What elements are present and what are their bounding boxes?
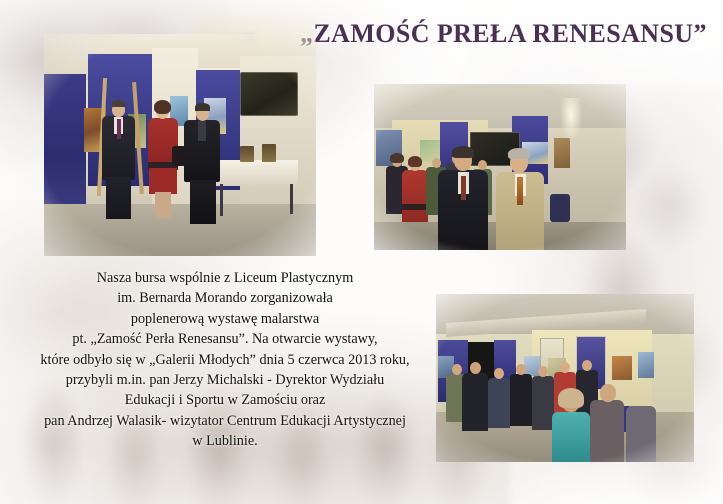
poster-body-text: Nasza bursa wspólnie z Liceum Plastyczny… — [10, 268, 440, 452]
visitor-5-head — [478, 160, 487, 170]
visitor-1-hair — [390, 153, 404, 163]
table-leg-left — [220, 184, 223, 216]
photo-3-scene — [436, 294, 694, 462]
cake-stand-b — [262, 144, 276, 162]
visitor-teal-top-body — [552, 412, 590, 462]
visitor-4-head — [516, 364, 526, 375]
man-black-jacket-hair — [195, 103, 210, 111]
painting-5 — [638, 352, 654, 378]
body-line: które odbyło się w „Galerii Młodych” dni… — [10, 350, 440, 370]
body-line: poplenerową wystawę malarstwa — [10, 309, 440, 329]
body-line: w Lublinie. — [10, 431, 440, 451]
visitor-4-body — [510, 374, 532, 426]
man-black-jacket-legs — [190, 180, 216, 224]
photo-exhibition-audience — [374, 84, 626, 250]
visitor-foreground-right-body — [626, 406, 656, 462]
body-line: pan Andrzej Walasik- wizytator Centrum E… — [10, 411, 440, 431]
visitor-3-head — [494, 368, 504, 379]
visitor-5-body — [532, 376, 554, 430]
blue-panel-left — [44, 74, 86, 210]
man-beige-suit-tie — [517, 177, 523, 205]
visitor-foreground-head — [600, 384, 616, 402]
poster-canvas: „ZAMOŚĆ PREŁA RENESANSU” — [0, 0, 723, 504]
woman-red-body — [402, 170, 428, 222]
visitor-7-head — [582, 360, 592, 371]
visitor-5-head — [538, 366, 548, 377]
body-line: pt. „Zamość Perła Renesansu”. Na otwarci… — [10, 329, 440, 349]
wall-light-glow — [558, 98, 584, 152]
woman-skirt — [149, 168, 177, 194]
visitor-red-shirt-head — [560, 362, 570, 373]
photo-gallery-visitors — [436, 294, 694, 462]
woman-red-hair — [408, 156, 422, 167]
man-beige-suit-hair — [508, 148, 530, 159]
body-line: Edukacji i Sportu w Zamościu oraz — [10, 390, 440, 410]
man-black-jacket-shirt — [198, 121, 206, 141]
man-suit-hair — [112, 100, 125, 107]
visitor-1-head — [452, 364, 462, 375]
man-suit-tie — [117, 119, 121, 139]
wall-screen — [240, 72, 298, 116]
visitor-2-body — [462, 373, 488, 431]
body-line: Nasza bursa wspólnie z Liceum Plastyczny… — [10, 268, 440, 288]
body-line: im. Bernarda Morando zorganizowała — [10, 288, 440, 308]
woman-red-belt — [402, 204, 428, 210]
floor — [44, 204, 316, 256]
cake-stand-a — [240, 146, 254, 162]
painting-4 — [612, 356, 632, 380]
visitor-foreground-body — [590, 400, 624, 462]
chair — [550, 194, 570, 222]
photo-1-scene — [44, 34, 316, 256]
photo-2-scene — [374, 84, 626, 250]
table-leg-right — [290, 184, 293, 214]
man-dark-suit-tie — [461, 176, 466, 200]
display-table — [212, 160, 298, 186]
visitor-teal-top-hair — [558, 388, 584, 408]
man-dark-suit-hair — [452, 146, 474, 158]
visitor-2-head — [470, 362, 481, 374]
man-suit-legs — [106, 177, 131, 219]
woman-legs — [155, 192, 171, 218]
photo-gallery-three-people — [44, 34, 316, 256]
woman-hair — [154, 100, 171, 114]
body-line: przybyli m.in. pan Jerzy Michalski - Dyr… — [10, 370, 440, 390]
visitor-3-head — [432, 158, 441, 168]
poster-title: „ZAMOŚĆ PREŁA RENESANSU” — [300, 20, 700, 49]
visitor-3-body — [488, 378, 510, 428]
